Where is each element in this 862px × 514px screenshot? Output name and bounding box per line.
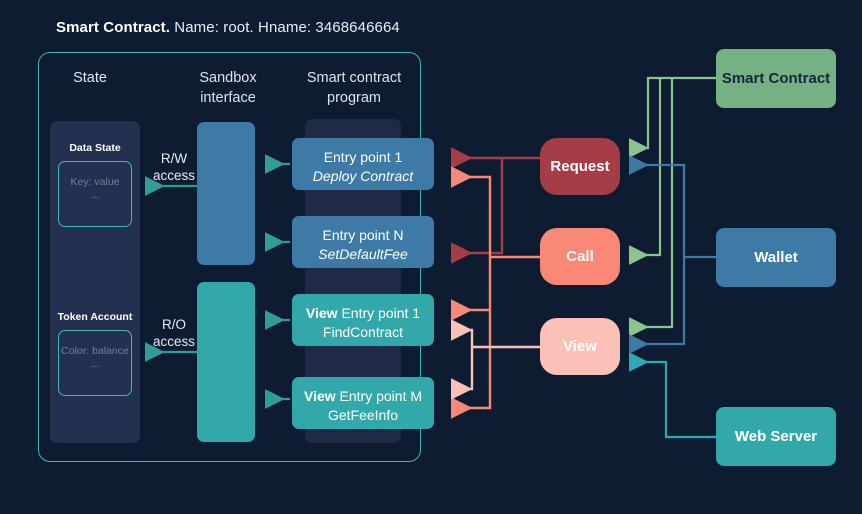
token-account-box: Color: balance ... [58, 330, 132, 396]
token-account-kv: Color: balance [59, 344, 131, 358]
ro-access-label: R/O access [143, 316, 205, 350]
rw-access-label: R/W access [143, 150, 205, 184]
entry-point-n[interactable]: Entry point N SetDefaultFee [292, 216, 434, 268]
sandbox-interface-ro [197, 282, 255, 442]
page-title-rest: Name: root. Hname: 3468646664 [170, 19, 400, 36]
data-state-box: Key: value ... [58, 161, 132, 227]
data-state-title: Data State [50, 142, 140, 154]
view-entry-point-m[interactable]: View Entry point M GetFeeInfo [292, 377, 434, 429]
view-entry-point-m-line2: GetFeeInfo [292, 406, 434, 425]
diagram-canvas: Smart Contract. Name: root. Hname: 34686… [0, 0, 862, 514]
view-entry-point-1-line1: Entry point 1 [341, 305, 420, 321]
actor-web-server[interactable]: Web Server [716, 407, 836, 466]
actor-wallet[interactable]: Wallet [716, 228, 836, 287]
actor-smart-contract[interactable]: Smart Contract [716, 49, 836, 108]
sandbox-interface-rw [197, 122, 255, 265]
page-title-bold: Smart Contract. [56, 19, 170, 36]
token-account-title: Token Account [50, 311, 140, 323]
column-heading-sandbox: Sandbox interface [182, 68, 274, 108]
entry-point-1[interactable]: Entry point 1 Deploy Contract [292, 138, 434, 190]
entry-point-1-line2: Deploy Contract [292, 167, 434, 186]
view-entry-point-1-line2: FindContract [292, 323, 434, 342]
page-title: Smart Contract. Name: root. Hname: 34686… [56, 19, 400, 36]
view-entry-point-m-line1: Entry point M [340, 388, 422, 404]
pill-request[interactable]: Request [540, 138, 620, 195]
data-state-dots: ... [59, 189, 131, 201]
view-entry-point-1-prefix: View [306, 305, 338, 321]
view-entry-point-m-prefix: View [304, 388, 336, 404]
data-state-kv: Key: value [59, 175, 131, 189]
pill-call[interactable]: Call [540, 228, 620, 285]
entry-point-n-line1: Entry point N [323, 227, 404, 243]
column-heading-state: State [44, 68, 136, 88]
column-heading-program: Smart contract program [294, 68, 414, 108]
pill-view[interactable]: View [540, 318, 620, 375]
token-account-dots: ... [59, 358, 131, 370]
view-entry-point-1[interactable]: View Entry point 1 FindContract [292, 294, 434, 346]
entry-point-1-line1: Entry point 1 [324, 149, 403, 165]
entry-point-n-line2: SetDefaultFee [292, 245, 434, 264]
